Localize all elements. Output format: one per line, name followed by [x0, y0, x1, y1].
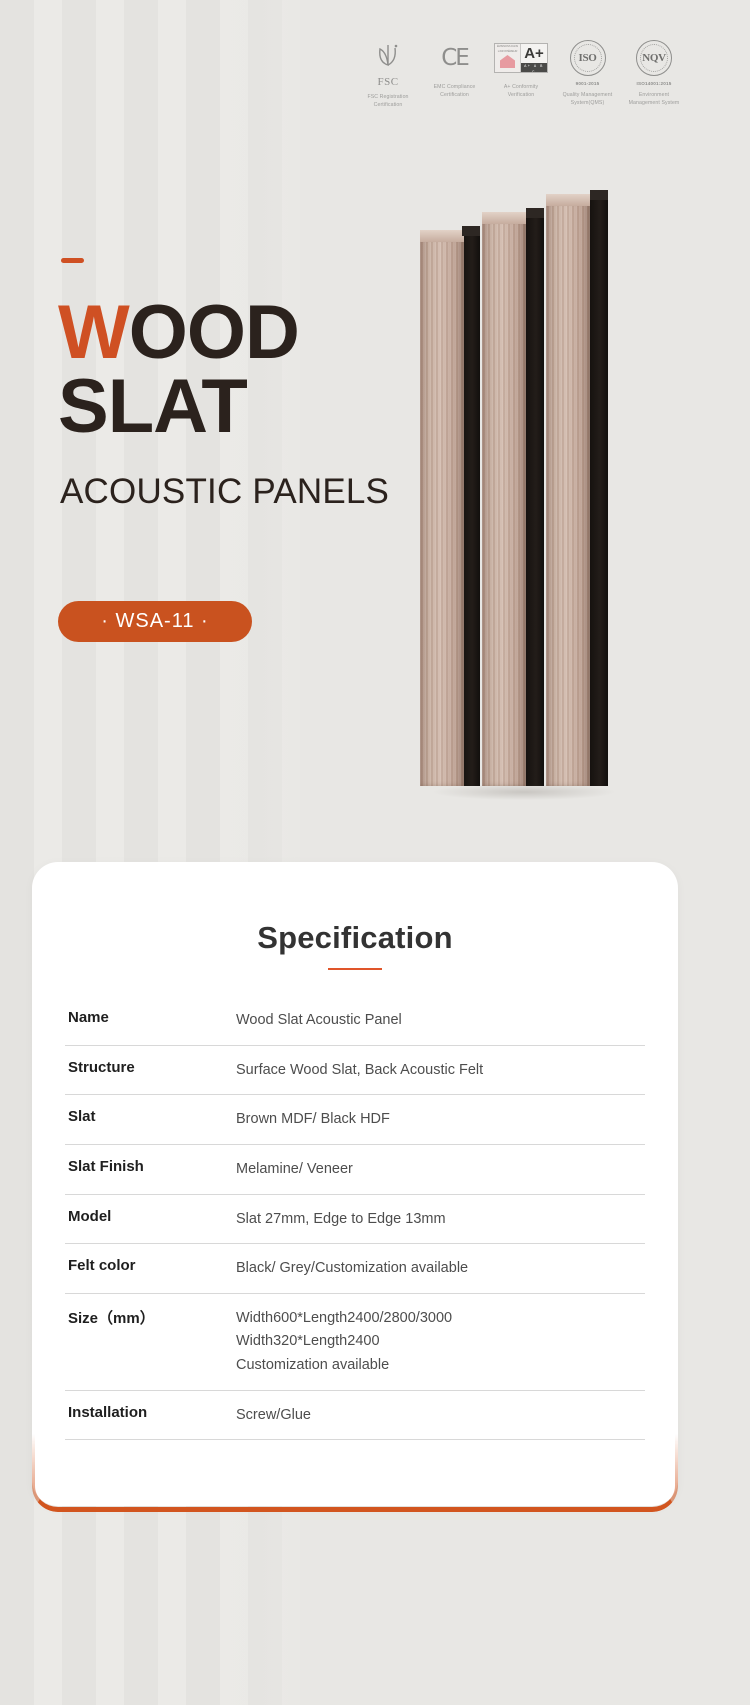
- wood-slat-top-face: [420, 230, 464, 242]
- certification-item-fsc: FSC FSC Registration Certification: [358, 38, 418, 109]
- spec-row: ModelSlat 27mm, Edge to Edge 13mm: [65, 1195, 645, 1245]
- felt-top-face: [462, 226, 480, 236]
- a-plus-label-icon: ÉMISSIONS DANS L'AIR INTÉRIEUR A+ A+ A B…: [491, 38, 551, 78]
- ce-wordmark: CE: [441, 45, 468, 71]
- spec-row-key: Slat: [65, 1108, 236, 1125]
- ce-mark-icon: CE: [425, 38, 485, 78]
- spec-row-value: Screw/Glue: [236, 1404, 311, 1428]
- title-line-1: WOOD: [58, 296, 299, 370]
- spec-row-value: Surface Wood Slat, Back Acoustic Felt: [236, 1059, 483, 1083]
- spec-row-value: Brown MDF/ Black HDF: [236, 1108, 390, 1132]
- title-line-2: SLAT: [58, 370, 299, 444]
- certification-caption: FSC Registration Certification: [358, 93, 418, 109]
- iso-wordmark: ISO: [578, 52, 596, 64]
- spec-row-value: Melamine/ Veneer: [236, 1158, 353, 1182]
- title-line-1-rest: OOD: [129, 290, 299, 375]
- aplus-rating-panel: A+ A+ A B C: [521, 44, 547, 72]
- wood-slat-illustration: [420, 196, 610, 786]
- page-title: WOOD SLAT: [58, 296, 299, 445]
- spec-row: Slat FinishMelamine/ Veneer: [65, 1145, 645, 1195]
- product-image: [420, 196, 610, 786]
- house-icon: [500, 55, 515, 68]
- wood-slat-top-face: [546, 194, 590, 206]
- spec-row: InstallationScrew/Glue: [65, 1391, 645, 1441]
- iso-standard-number: ISO14001:2015: [624, 81, 684, 86]
- aplus-scale: A+ A B C: [521, 63, 547, 73]
- title-accent-letter: W: [58, 290, 129, 375]
- felt-top-face: [526, 208, 544, 218]
- specification-table: NameWood Slat Acoustic PanelStructureSur…: [65, 996, 645, 1440]
- spec-row-key: Felt color: [65, 1257, 236, 1274]
- spec-row-value: Width600*Length2400/2800/3000 Width320*L…: [236, 1307, 452, 1378]
- spec-row-key: Name: [65, 1009, 236, 1026]
- wood-slat: [420, 238, 464, 786]
- felt-top-face: [590, 190, 608, 200]
- spec-row: SlatBrown MDF/ Black HDF: [65, 1095, 645, 1145]
- felt-strip: [462, 232, 480, 786]
- nqv-wordmark: NQV: [642, 52, 666, 64]
- aplus-emission-text: ÉMISSIONS DANS L'AIR INTÉRIEUR: [495, 44, 520, 54]
- product-page: FSC FSC Registration Certification CE EM…: [0, 0, 750, 1705]
- spec-row-key: Structure: [65, 1059, 236, 1076]
- nqv-seal-icon: NQV: [624, 38, 684, 78]
- spec-row-key: Slat Finish: [65, 1158, 236, 1175]
- aplus-emission-panel: ÉMISSIONS DANS L'AIR INTÉRIEUR: [495, 44, 521, 72]
- certification-caption: A+ Conformity Verification: [491, 83, 551, 99]
- specification-heading-underline: [328, 968, 382, 970]
- felt-strip: [590, 196, 608, 786]
- spec-row-key: Size（mm）: [65, 1307, 236, 1328]
- wood-slat: [546, 202, 590, 786]
- specification-heading: Specification: [32, 862, 678, 956]
- spec-row-key: Model: [65, 1208, 236, 1225]
- spec-row: Size（mm）Width600*Length2400/2800/3000 Wi…: [65, 1294, 645, 1391]
- felt-strip: [526, 214, 544, 786]
- wood-slat: [482, 220, 526, 786]
- spec-row-value: Wood Slat Acoustic Panel: [236, 1009, 402, 1033]
- certification-item-iso14001: NQV ISO14001:2015 Environment Management…: [624, 38, 684, 107]
- fsc-tree-icon: [358, 38, 418, 78]
- certification-caption: EMC Compliance Certification: [425, 83, 485, 99]
- certification-item-iso9001: ISO 9001-2015 Quality Management System(…: [558, 38, 618, 107]
- spec-row-value: Slat 27mm, Edge to Edge 13mm: [236, 1208, 446, 1232]
- spec-row: StructureSurface Wood Slat, Back Acousti…: [65, 1046, 645, 1096]
- aplus-grade: A+: [521, 44, 547, 63]
- spec-row: NameWood Slat Acoustic Panel: [65, 996, 645, 1046]
- certification-caption: Quality Management System(QMS): [558, 91, 618, 107]
- wood-slat-top-face: [482, 212, 526, 224]
- certification-item-ce: CE EMC Compliance Certification: [425, 38, 485, 99]
- certification-caption: Environment Management System: [624, 91, 684, 107]
- spec-row-key: Installation: [65, 1404, 236, 1421]
- spec-row-value: Black/ Grey/Customization available: [236, 1257, 468, 1281]
- fsc-wordmark: FSC: [358, 76, 418, 88]
- specification-card: Specification NameWood Slat Acoustic Pan…: [32, 862, 678, 1506]
- model-badge: · WSA-11 ·: [58, 601, 252, 642]
- iso-standard-number: 9001-2015: [558, 81, 618, 86]
- certification-item-aplus: ÉMISSIONS DANS L'AIR INTÉRIEUR A+ A+ A B…: [491, 38, 551, 99]
- spec-row: Felt colorBlack/ Grey/Customization avai…: [65, 1244, 645, 1294]
- certification-strip: FSC FSC Registration Certification CE EM…: [358, 38, 684, 109]
- title-accent-dash: [61, 258, 84, 263]
- iso-seal-icon: ISO: [558, 38, 618, 78]
- product-shadow: [434, 784, 614, 800]
- page-subtitle: ACOUSTIC PANELS: [60, 472, 389, 512]
